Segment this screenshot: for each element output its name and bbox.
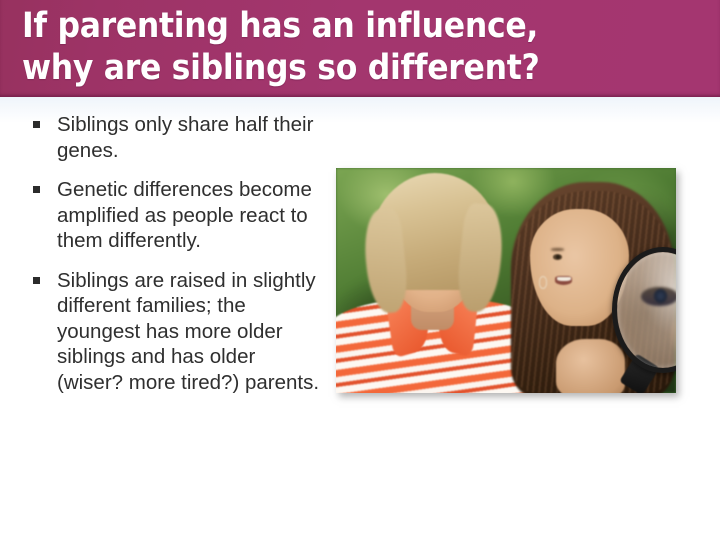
presentation-slide: If parenting has an influence, why are s… [0,0,720,539]
photo-content [336,168,676,393]
bullet-text: Siblings only share half their genes. [57,112,324,163]
list-item: Siblings only share half their genes. [24,112,324,163]
bullet-list: Siblings only share half their genes. Ge… [24,112,324,409]
page-title: If parenting has an influence, why are s… [22,5,682,89]
square-bullet-icon [33,277,40,284]
list-item: Siblings are raised in slightly differen… [24,268,324,396]
magnifying-glass-rim [612,247,676,373]
square-bullet-icon [33,121,40,128]
girl-earring [539,276,548,289]
square-bullet-icon [33,186,40,193]
list-item: Genetic differences become amplified as … [24,177,324,254]
subject-dark-haired-girl [499,168,676,393]
slide-title-band: If parenting has an influence, why are s… [0,0,720,97]
girl-eyebrow-left [551,248,564,251]
magnifying-glass-icon [612,247,676,373]
girl-eye-left [553,254,562,260]
photo-two-children-magnifying-glass [336,168,676,393]
bullet-text: Genetic differences become amplified as … [57,177,324,254]
girl-mouth [555,276,572,284]
bullet-text: Siblings are raised in slightly differen… [57,268,324,396]
girl-teeth [557,277,570,281]
